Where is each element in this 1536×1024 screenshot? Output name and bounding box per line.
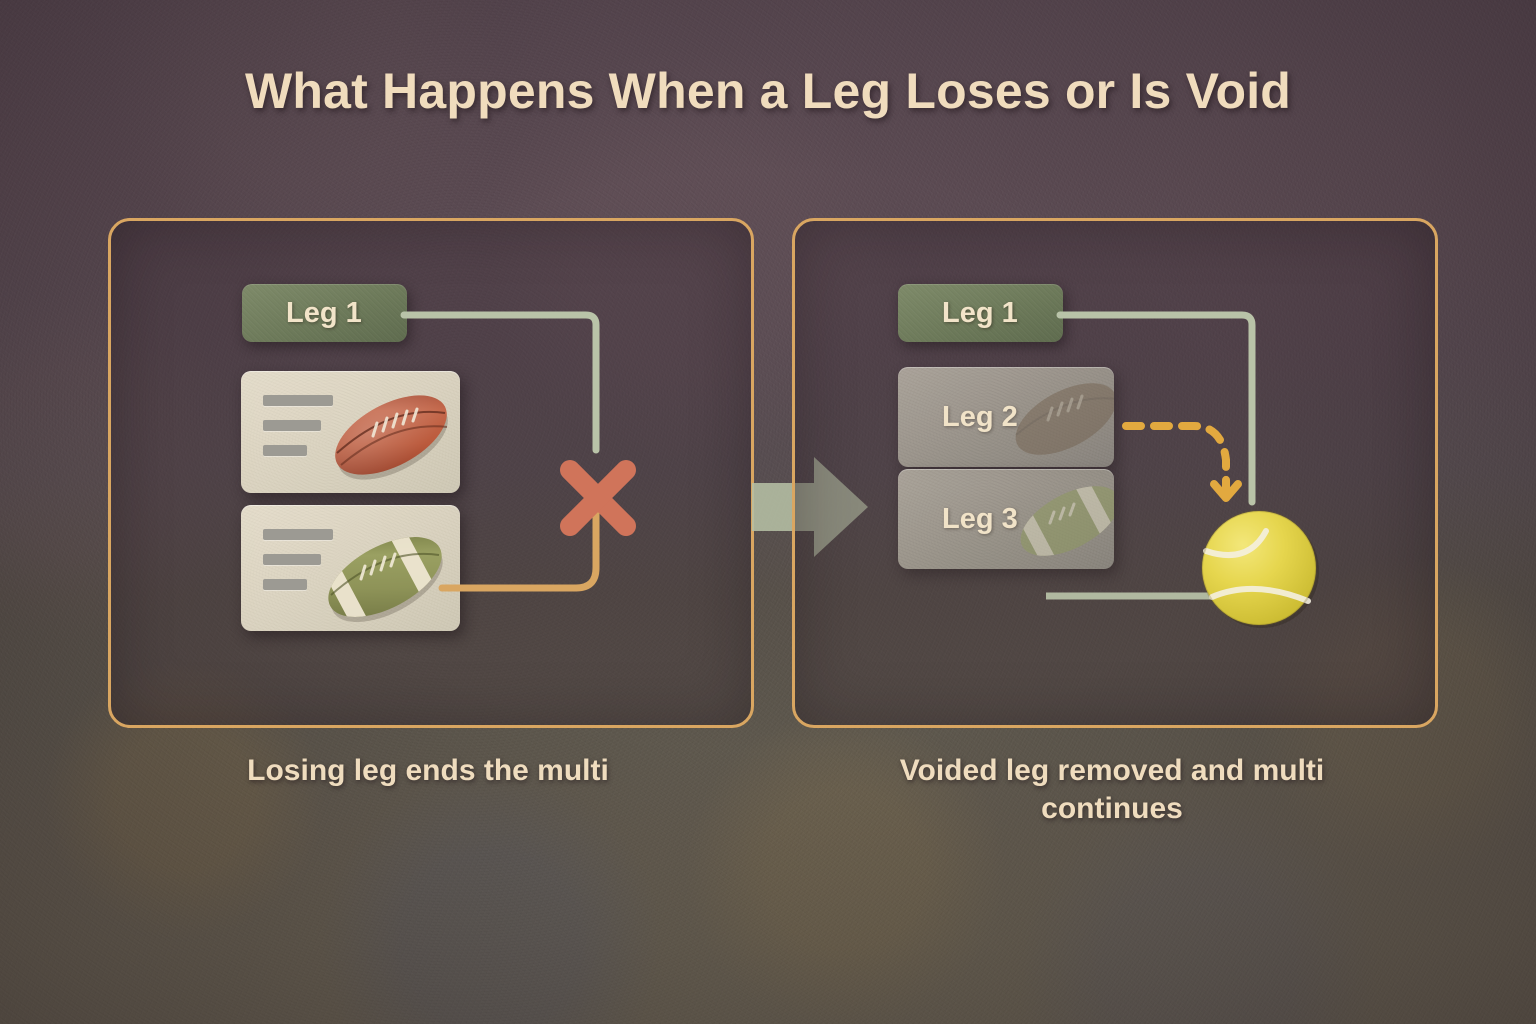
tennis-ball-icon xyxy=(1196,505,1322,631)
faded-leg-card-leg3[interactable]: Leg 3 xyxy=(898,469,1114,569)
faded-leg-label: Leg 2 xyxy=(942,401,1018,434)
bet-card-afl[interactable] xyxy=(241,371,460,493)
afl-football-icon xyxy=(319,379,460,491)
x-mark-icon xyxy=(552,452,644,544)
leg-pill-left-leg1[interactable]: Leg 1 xyxy=(242,284,407,342)
caption-losing-leg: Losing leg ends the multi xyxy=(188,752,668,790)
panel-voided-leg xyxy=(792,218,1438,728)
leg-pill-right-leg1[interactable]: Leg 1 xyxy=(898,284,1063,342)
leg-pill-label: Leg 1 xyxy=(942,297,1018,330)
faded-leg-label: Leg 3 xyxy=(942,503,1018,536)
placeholder-line xyxy=(263,445,307,456)
afl-football-ghost-icon xyxy=(1002,369,1114,465)
faded-leg-card-leg2[interactable]: Leg 2 xyxy=(898,367,1114,467)
caption-voided-leg: Voided leg removed and multi continues xyxy=(872,752,1352,829)
placeholder-line xyxy=(263,420,321,431)
rugby-football-icon xyxy=(309,519,460,631)
rugby-football-ghost-icon xyxy=(1006,475,1114,567)
page-title: What Happens When a Leg Loses or Is Void xyxy=(0,62,1536,120)
bet-card-rugby[interactable] xyxy=(241,505,460,631)
leg-pill-label: Leg 1 xyxy=(286,297,362,330)
placeholder-line xyxy=(263,579,307,590)
